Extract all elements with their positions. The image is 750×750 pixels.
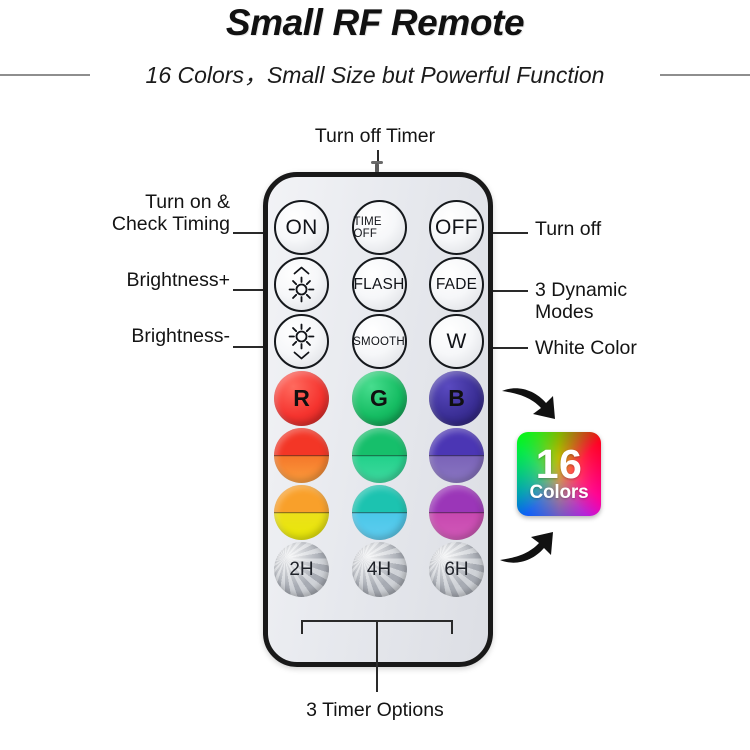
on-button-label: ON xyxy=(285,216,317,240)
flash-button[interactable]: FLASH xyxy=(352,257,407,312)
timer-2h-button[interactable]: 2H xyxy=(274,542,329,597)
timer-4h-label: 4H xyxy=(367,559,391,581)
button-row-colors-3 xyxy=(274,485,484,540)
button-row-power: ON TIME OFF OFF xyxy=(274,200,484,255)
sun-icon xyxy=(288,276,315,303)
purple-magenta-button[interactable] xyxy=(429,485,484,540)
button-row-colors-2 xyxy=(274,428,484,483)
timer-4h-button[interactable]: 4H xyxy=(352,542,407,597)
button-row-timer: 2H 4H 6H xyxy=(274,542,484,597)
on-button[interactable]: ON xyxy=(274,200,329,255)
white-button[interactable]: W xyxy=(429,314,484,369)
red-orange-button[interactable] xyxy=(274,428,329,483)
page-subtitle: 16 Colors，Small Size but Powerful Functi… xyxy=(0,56,750,90)
callout-timer-options: 3 Timer Options xyxy=(0,700,750,722)
callout-white-color: White Color xyxy=(535,338,725,360)
flash-button-label: FLASH xyxy=(354,276,405,294)
off-button-label: OFF xyxy=(435,216,478,240)
brightness-up-button[interactable] xyxy=(274,257,329,312)
red-button[interactable]: R xyxy=(274,371,329,426)
orange-yellow-button[interactable] xyxy=(274,485,329,540)
smooth-button[interactable]: SMOOTH xyxy=(352,314,407,369)
callout-brightness-down: Brightness- xyxy=(60,326,230,348)
smooth-button-label: SMOOTH xyxy=(353,336,405,348)
blue-button-label: B xyxy=(448,385,465,412)
button-row-brightness-down: SMOOTH W xyxy=(274,314,484,369)
button-row-rgb: R G B xyxy=(274,371,484,426)
divider-right xyxy=(660,74,750,76)
timer-2h-label: 2H xyxy=(289,559,313,581)
green-button[interactable]: G xyxy=(352,371,407,426)
callout-brightness-up: Brightness+ xyxy=(60,270,230,292)
brightness-down-icon xyxy=(288,323,315,360)
split-divider xyxy=(274,455,329,457)
green-spring-button[interactable] xyxy=(352,428,407,483)
split-divider xyxy=(429,512,484,514)
split-divider xyxy=(429,455,484,457)
remote-button-grid: ON TIME OFF OFF xyxy=(274,200,484,630)
fade-button-label: FADE xyxy=(436,276,477,294)
green-button-label: G xyxy=(370,385,388,412)
split-divider xyxy=(352,512,407,514)
divider-left xyxy=(0,74,90,76)
red-button-label: R xyxy=(293,385,310,412)
brightness-down-button[interactable] xyxy=(274,314,329,369)
callout-turn-off-timer: Turn off Timer xyxy=(0,126,750,148)
button-row-brightness-up: FLASH FADE xyxy=(274,257,484,312)
chevron-down-icon xyxy=(293,351,310,360)
brightness-up-icon xyxy=(288,266,315,303)
badge-caption: Colors xyxy=(530,483,589,502)
arrow-to-badge-top xyxy=(500,383,562,429)
time-off-button-label: TIME OFF xyxy=(354,216,405,240)
split-divider xyxy=(352,455,407,457)
blue-button[interactable]: B xyxy=(429,371,484,426)
teal-cyan-button[interactable] xyxy=(352,485,407,540)
callout-turn-on-check-timing: Turn on & Check Timing xyxy=(60,192,230,236)
timer-6h-label: 6H xyxy=(444,559,468,581)
blue-purple-button[interactable] xyxy=(429,428,484,483)
timer-6h-button[interactable]: 6H xyxy=(429,542,484,597)
sixteen-colors-badge: 16 Colors xyxy=(517,432,601,516)
sun-icon xyxy=(288,323,315,350)
off-button[interactable]: OFF xyxy=(429,200,484,255)
callout-dynamic-modes: 3 Dynamic Modes xyxy=(535,280,725,324)
arrow-to-badge-bottom xyxy=(498,522,560,568)
page-title: Small RF Remote xyxy=(0,2,750,44)
callout-turn-off: Turn off xyxy=(535,219,725,241)
badge-number: 16 xyxy=(536,446,583,484)
white-button-label: W xyxy=(446,330,466,354)
time-off-button[interactable]: TIME OFF xyxy=(352,200,407,255)
fade-button[interactable]: FADE xyxy=(429,257,484,312)
chevron-up-icon xyxy=(293,266,310,275)
split-divider xyxy=(274,512,329,514)
